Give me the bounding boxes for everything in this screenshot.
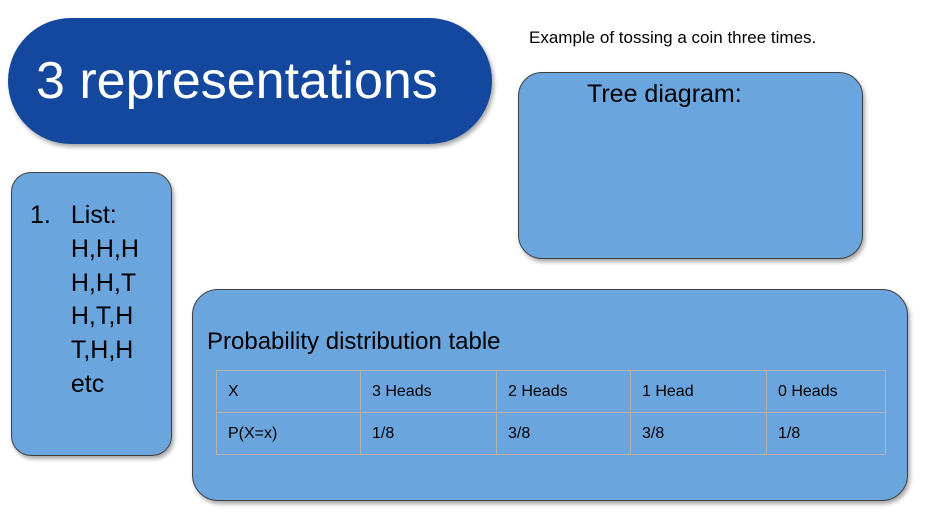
list-line: T,H,H (71, 334, 139, 368)
slide-title-pill: 3 representations (8, 18, 492, 144)
table-cell: 3/8 (631, 413, 767, 455)
list-line: H,T,H (71, 300, 139, 334)
list-content: 1. List: H,H,H H,H,T H,T,H T,H,H etc (30, 199, 165, 402)
table-cell: 0 Heads (767, 371, 886, 413)
table-row: X 3 Heads 2 Heads 1 Head 0 Heads (217, 371, 886, 413)
list-line: List: (71, 199, 139, 233)
list-line: etc (71, 368, 139, 402)
table-cell: 1/8 (361, 413, 497, 455)
table-cell: P(X=x) (217, 413, 361, 455)
tree-diagram-label: Tree diagram: (587, 79, 742, 110)
list-box: 1. List: H,H,H H,H,T H,T,H T,H,H etc (11, 172, 172, 456)
list-lines: List: H,H,H H,H,T H,T,H T,H,H etc (71, 199, 139, 402)
list-item-number: 1. (30, 199, 51, 233)
slide-canvas: 3 representations Example of tossing a c… (0, 0, 936, 522)
tree-diagram-box: Tree diagram: (518, 72, 863, 259)
probability-table-box: Probability distribution table X 3 Heads… (192, 289, 908, 501)
table-cell: 1 Head (631, 371, 767, 413)
example-caption: Example of tossing a coin three times. (529, 28, 816, 48)
probability-table-title: Probability distribution table (207, 328, 501, 357)
probability-distribution-table: X 3 Heads 2 Heads 1 Head 0 Heads P(X=x) … (216, 370, 886, 455)
list-line: H,H,T (71, 267, 139, 301)
table-cell: X (217, 371, 361, 413)
page-title: 3 representations (36, 54, 438, 109)
table-cell: 1/8 (767, 413, 886, 455)
table-cell: 2 Heads (497, 371, 631, 413)
table-row: P(X=x) 1/8 3/8 3/8 1/8 (217, 413, 886, 455)
table-cell: 3 Heads (361, 371, 497, 413)
table-cell: 3/8 (497, 413, 631, 455)
list-line: H,H,H (71, 233, 139, 267)
